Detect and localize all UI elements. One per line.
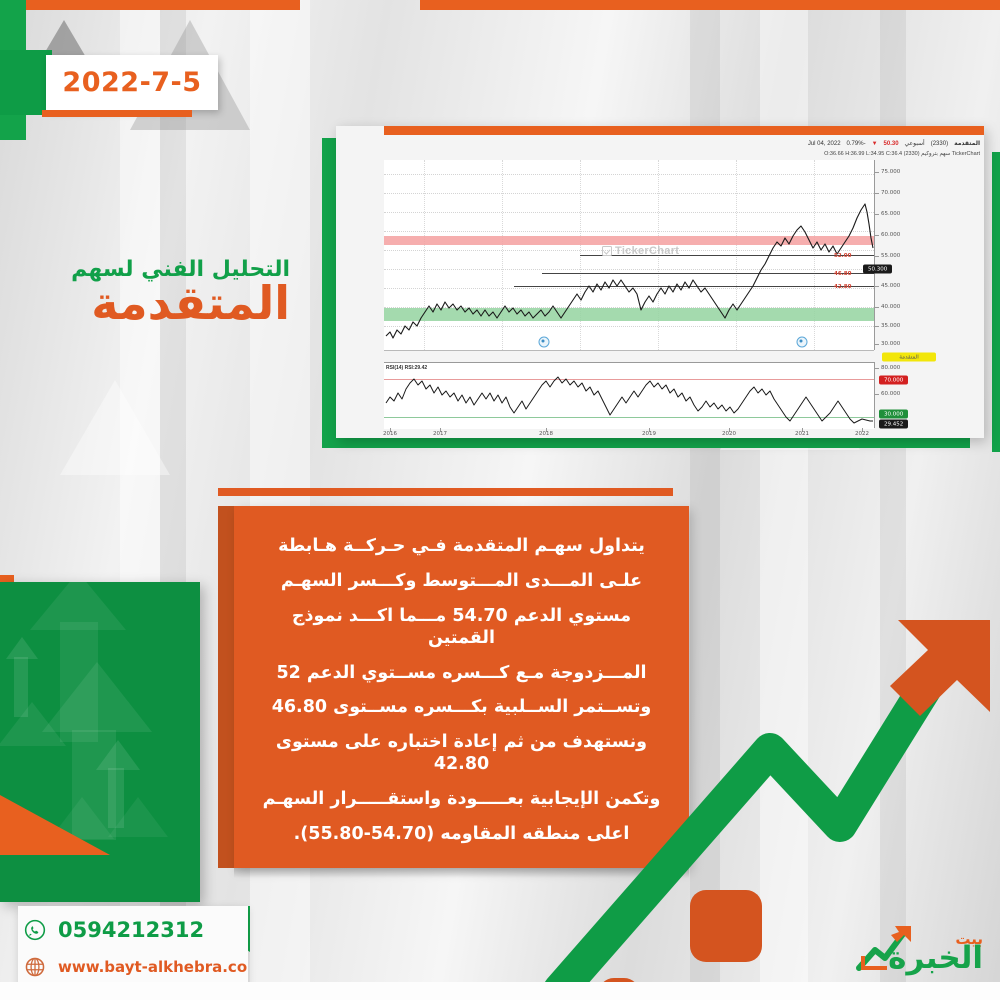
whatsapp-icon bbox=[24, 919, 46, 941]
axis-tick-label: 2021 bbox=[795, 431, 809, 437]
axis-tick-label: 2018 bbox=[539, 431, 553, 437]
price-plot-area: TickerChart bbox=[384, 160, 874, 351]
axis-tick-label: 35.000 bbox=[881, 323, 900, 329]
axis-tick-label: 70.000 bbox=[881, 190, 900, 196]
symbol-pill: المتقدمة bbox=[882, 353, 936, 362]
chart-quote-date: Jul 04, 2022 bbox=[808, 141, 841, 147]
right-green-strip bbox=[992, 152, 1000, 452]
price-marker-pill: 50.300 bbox=[863, 265, 892, 274]
date-text: 2022-7-5 bbox=[62, 67, 201, 98]
chart-card: المتقدمة (2330) أسبوعي 50.30 ▼ -0.79% Ju… bbox=[336, 126, 984, 438]
chart-symbol-name: المتقدمة bbox=[954, 140, 980, 147]
rsi-panel: RSI(14) RSI:29.42 bbox=[384, 362, 874, 429]
date-badge-underline bbox=[42, 110, 192, 117]
axis-tick-label: 2022 bbox=[855, 431, 869, 437]
time-axis: 2016 2017 2018 2019 2020 2021 2022 bbox=[384, 428, 874, 438]
globe-icon bbox=[24, 956, 46, 978]
price-axis: 75.000 70.000 65.000 60.000 55.000 45.00… bbox=[874, 160, 984, 350]
axis-tick-label: 80.000 bbox=[881, 365, 900, 371]
brand-logo-bottom-text: الخبرة bbox=[888, 943, 983, 974]
page-title: التحليل الفني لسهم المتقدمة bbox=[71, 258, 290, 327]
chart-ohlc-line: TickerChart سهم بتروكيم (2330) O:36.66 H… bbox=[388, 151, 980, 157]
chart-timeframe: أسبوعي bbox=[905, 140, 925, 147]
contact-phone-row[interactable]: 0594212312 bbox=[24, 918, 204, 942]
axis-tick-label: 2017 bbox=[433, 431, 447, 437]
decorative-square bbox=[690, 890, 762, 962]
brand-logo-text: بيت الخبرة bbox=[888, 932, 983, 974]
axis-tick-label: 30.000 bbox=[881, 341, 900, 347]
axis-tick-label: 75.000 bbox=[881, 169, 900, 175]
rsi-oversold-pill: 30.000 bbox=[879, 410, 908, 419]
price-series-line bbox=[384, 160, 874, 350]
page-title-text: المتقدمة bbox=[71, 280, 290, 327]
contact-website-text: www.bayt-alkhebra.co bbox=[58, 958, 247, 976]
chart-header: المتقدمة (2330) أسبوعي 50.30 ▼ -0.79% Ju… bbox=[388, 140, 980, 157]
chart-card-orange-bar bbox=[384, 126, 984, 135]
axis-tick-label: 55.000 bbox=[881, 253, 900, 259]
date-badge: 2022-7-5 bbox=[46, 55, 218, 110]
chart-header-quote-row: المتقدمة (2330) أسبوعي 50.30 ▼ -0.79% Ju… bbox=[388, 140, 980, 147]
panel-arrow-head bbox=[108, 797, 168, 837]
axis-tick-label: 40.000 bbox=[881, 304, 900, 310]
rsi-axis: 80.000 60.000 70.000 30.000 29.452 bbox=[874, 362, 984, 428]
contact-website-row[interactable]: www.bayt-alkhebra.co bbox=[24, 956, 247, 978]
chart-last-price: 50.30 bbox=[884, 141, 899, 147]
rsi-overbought-pill: 70.000 bbox=[879, 376, 908, 385]
chart-event-marker[interactable] bbox=[797, 337, 808, 348]
chart-event-marker[interactable] bbox=[539, 337, 550, 348]
axis-tick-label: 2019 bbox=[642, 431, 656, 437]
date-badge-green-block bbox=[0, 50, 52, 115]
panel-arrow-head bbox=[96, 740, 140, 770]
infographic-canvas: 2022-7-5 التحليل الفني لسهم المتقدمة الم… bbox=[0, 0, 1000, 1000]
level-label-52: 52.00 bbox=[834, 253, 851, 259]
analysis-accent-bar bbox=[218, 488, 673, 496]
rsi-value-pill: 29.452 bbox=[879, 420, 908, 429]
axis-tick-label: 2020 bbox=[722, 431, 736, 437]
axis-tick-label: 60.000 bbox=[881, 232, 900, 238]
analysis-line: يتداول سهـم المتقدمة فـي حـركــة هـابطة bbox=[256, 536, 667, 558]
chart-change-pct: -0.79% bbox=[847, 141, 866, 147]
contact-phone-text: 0594212312 bbox=[58, 918, 204, 942]
background-triangle bbox=[60, 380, 170, 475]
brand-logo[interactable]: بيت الخبرة bbox=[855, 900, 985, 978]
panel-arrow-head bbox=[0, 702, 66, 746]
chart-symbol-code: (2330) bbox=[931, 141, 948, 147]
left-orange-corner bbox=[0, 795, 110, 855]
level-label-42-80: 42.80 bbox=[834, 284, 851, 290]
rsi-series-line bbox=[384, 363, 874, 429]
axis-tick-label: 2016 bbox=[383, 431, 397, 437]
axis-tick-label: 60.000 bbox=[881, 391, 900, 397]
level-label-46-80: 46.80 bbox=[834, 271, 851, 277]
top-bar-right bbox=[420, 0, 1000, 10]
axis-tick-label: 45.000 bbox=[881, 283, 900, 289]
panel-arrow-head bbox=[6, 637, 38, 659]
axis-tick-label: 65.000 bbox=[881, 211, 900, 217]
analysis-card-side bbox=[218, 506, 234, 868]
bottom-white-bar bbox=[0, 982, 1000, 1000]
top-bar-left bbox=[0, 0, 300, 10]
arrow-down-icon: ▼ bbox=[872, 141, 878, 147]
